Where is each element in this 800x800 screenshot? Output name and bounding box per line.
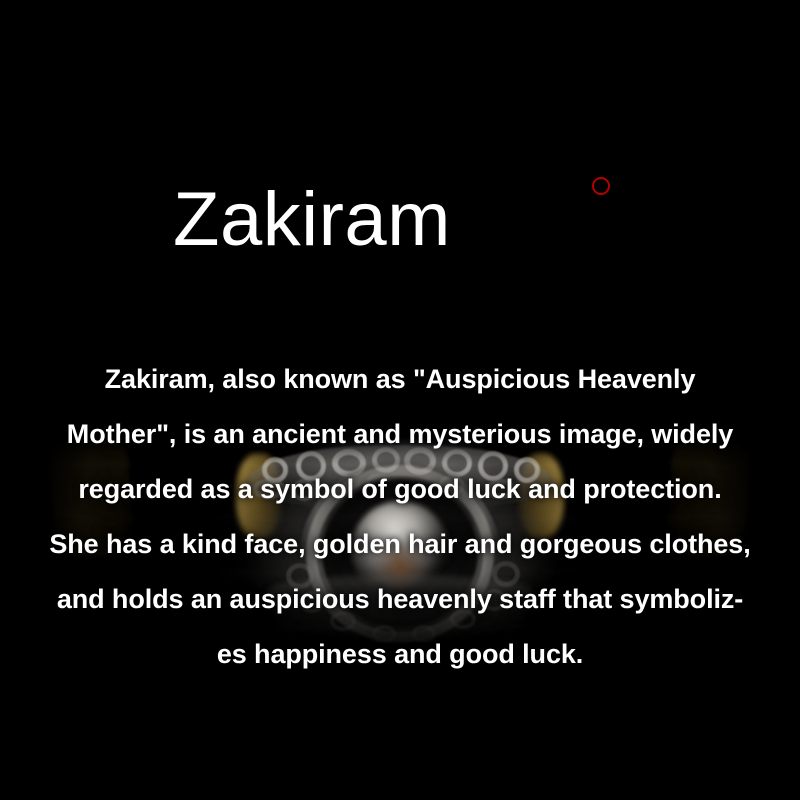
description-text: Zakiram, also known as "Auspicious Heave… — [0, 352, 800, 682]
description-line: Mother", is an ancient and mysterious im… — [0, 407, 800, 462]
description-line: She has a kind face, golden hair and gor… — [0, 517, 800, 572]
description-line: regarded as a symbol of good luck and pr… — [0, 462, 800, 517]
description-line: es happiness and good luck. — [0, 627, 800, 682]
description-line: and holds an auspicious heavenly staff t… — [0, 572, 800, 627]
red-circle-icon — [592, 177, 610, 195]
page-title-text: Zakiram — [173, 182, 451, 258]
description-line: Zakiram, also known as "Auspicious Heave… — [0, 352, 800, 407]
product-banner: Zakiram Zakiram, also known as "Auspicio… — [0, 0, 800, 800]
page-title: Zakiram — [0, 182, 800, 258]
